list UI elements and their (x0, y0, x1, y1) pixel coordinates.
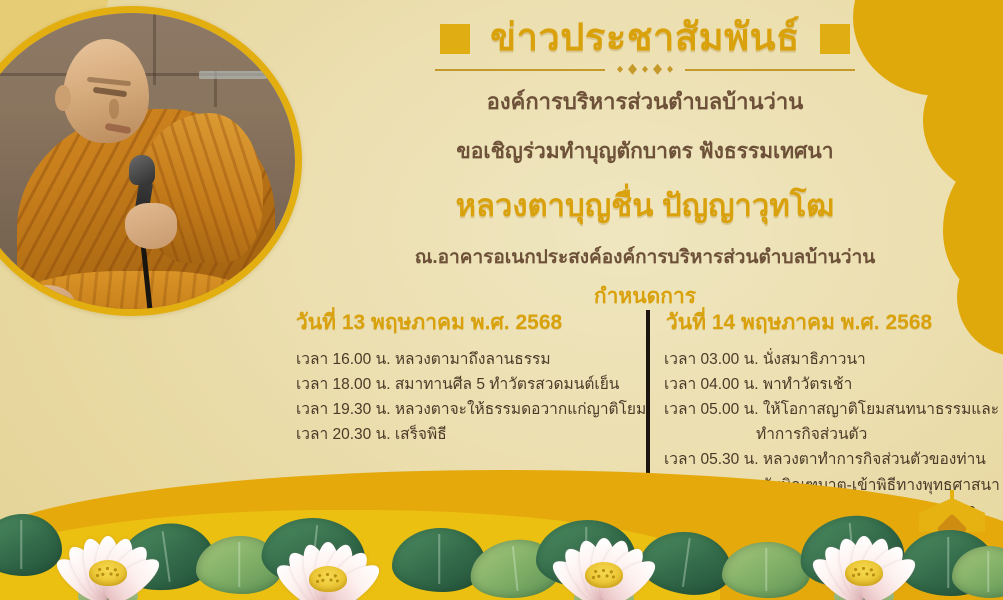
schedule-event: เวลา 16.00 น. หลวงตามาถึงลานธรรม (296, 347, 630, 372)
lotus-seed-pod (309, 566, 347, 592)
schedule-event: เวลา 19.30 น. หลวงตาจะให้ธรรมดอวากแก่ญาต… (296, 397, 630, 422)
header-block: ข่าวประชาสัมพันธ์ องค์การบริหารส่วนตำบลบ… (300, 18, 990, 313)
schedule-event-continuation: ทำการกิจส่วนตัว (664, 422, 998, 447)
schedule-event: เวลา 05.30 น. หลวงตาทำการกิจส่วนตัวของท่… (664, 447, 998, 472)
lotus-leaf-icon (722, 542, 810, 598)
venue-line: ณ.อาคารอเนกประสงค์องค์การบริหารส่วนตำบลบ… (300, 242, 990, 272)
poster-canvas: ข่าวประชาสัมพันธ์ องค์การบริหารส่วนตำบลบ… (0, 0, 1003, 600)
divider-pip-icon (667, 66, 673, 73)
monk-ear-shape (55, 85, 71, 111)
lotus-flower-icon (800, 502, 928, 600)
monk-hand-shape (125, 203, 177, 249)
schedule-event: เวลา 03.00 น. นั่งสมาธิภาวนา (664, 347, 998, 372)
schedule-event: เวลา 18.00 น. สมาทานศีล 5 ทำวัตรสวดมนต์เ… (296, 372, 630, 397)
schedule-event: เวลา 05.00 น. ให้โอกาสญาติโยมสนทนาธรรมแล… (664, 397, 998, 422)
schedule-event: เวลา 20.30 น. เสร็จพิธี (296, 422, 630, 447)
divider-pip-icon (642, 66, 648, 73)
schedule-day2-heading: วันที่ 14 พฤษภาคม พ.ศ. 2568 (666, 306, 998, 339)
bottom-lotus-band (0, 480, 1003, 600)
divider-bar-right (685, 69, 855, 71)
lotus-flower-icon (264, 508, 392, 600)
decorative-divider (435, 64, 855, 76)
schedule-day1-events: เวลา 16.00 น. หลวงตามาถึงลานธรรม เวลา 18… (296, 347, 630, 447)
wall-seam (153, 13, 156, 85)
monk-portrait-image (0, 13, 295, 309)
monk-nose-shape (109, 99, 119, 119)
schedule-event: เวลา 04.00 น. พาทำวัตรเช้า (664, 372, 998, 397)
page-title: ข่าวประชาสัมพันธ์ (490, 18, 800, 60)
lotus-flower-icon (44, 502, 172, 600)
lotus-seed-pod (585, 562, 623, 588)
invitation-line: ขอเชิญร่วมทำบุญตักบาตร ฟังธรรมเทศนา (300, 135, 990, 168)
schedule-day1-heading: วันที่ 13 พฤษภาคม พ.ศ. 2568 (296, 306, 630, 339)
divider-pip-icon (617, 66, 623, 73)
diamond-ornament-icon (440, 24, 470, 54)
schedule-event-text: ทำการกิจส่วนตัว (756, 426, 867, 443)
divider-pip-icon (653, 64, 662, 75)
divider-bar-left (435, 69, 605, 71)
diamond-ornament-icon (820, 24, 850, 54)
lotus-seed-pod (845, 560, 883, 586)
wall-highlight (199, 71, 267, 79)
monk-hand-shape (15, 285, 75, 316)
lotus-flower-icon (540, 504, 668, 600)
microphone-head-icon (129, 155, 155, 185)
column-divider (646, 310, 650, 498)
monk-portrait-frame (0, 6, 302, 316)
lotus-seed-pod (89, 560, 127, 586)
title-row: ข่าวประชาสัมพันธ์ (300, 18, 990, 60)
divider-center-ornament (617, 64, 673, 75)
monk-name: หลวงตาบุญชื่น ปัญญาวุทโฒ (300, 180, 990, 230)
divider-pip-icon (628, 64, 637, 75)
organization-name: องค์การบริหารส่วนตำบลบ้านว่าน (300, 84, 990, 119)
